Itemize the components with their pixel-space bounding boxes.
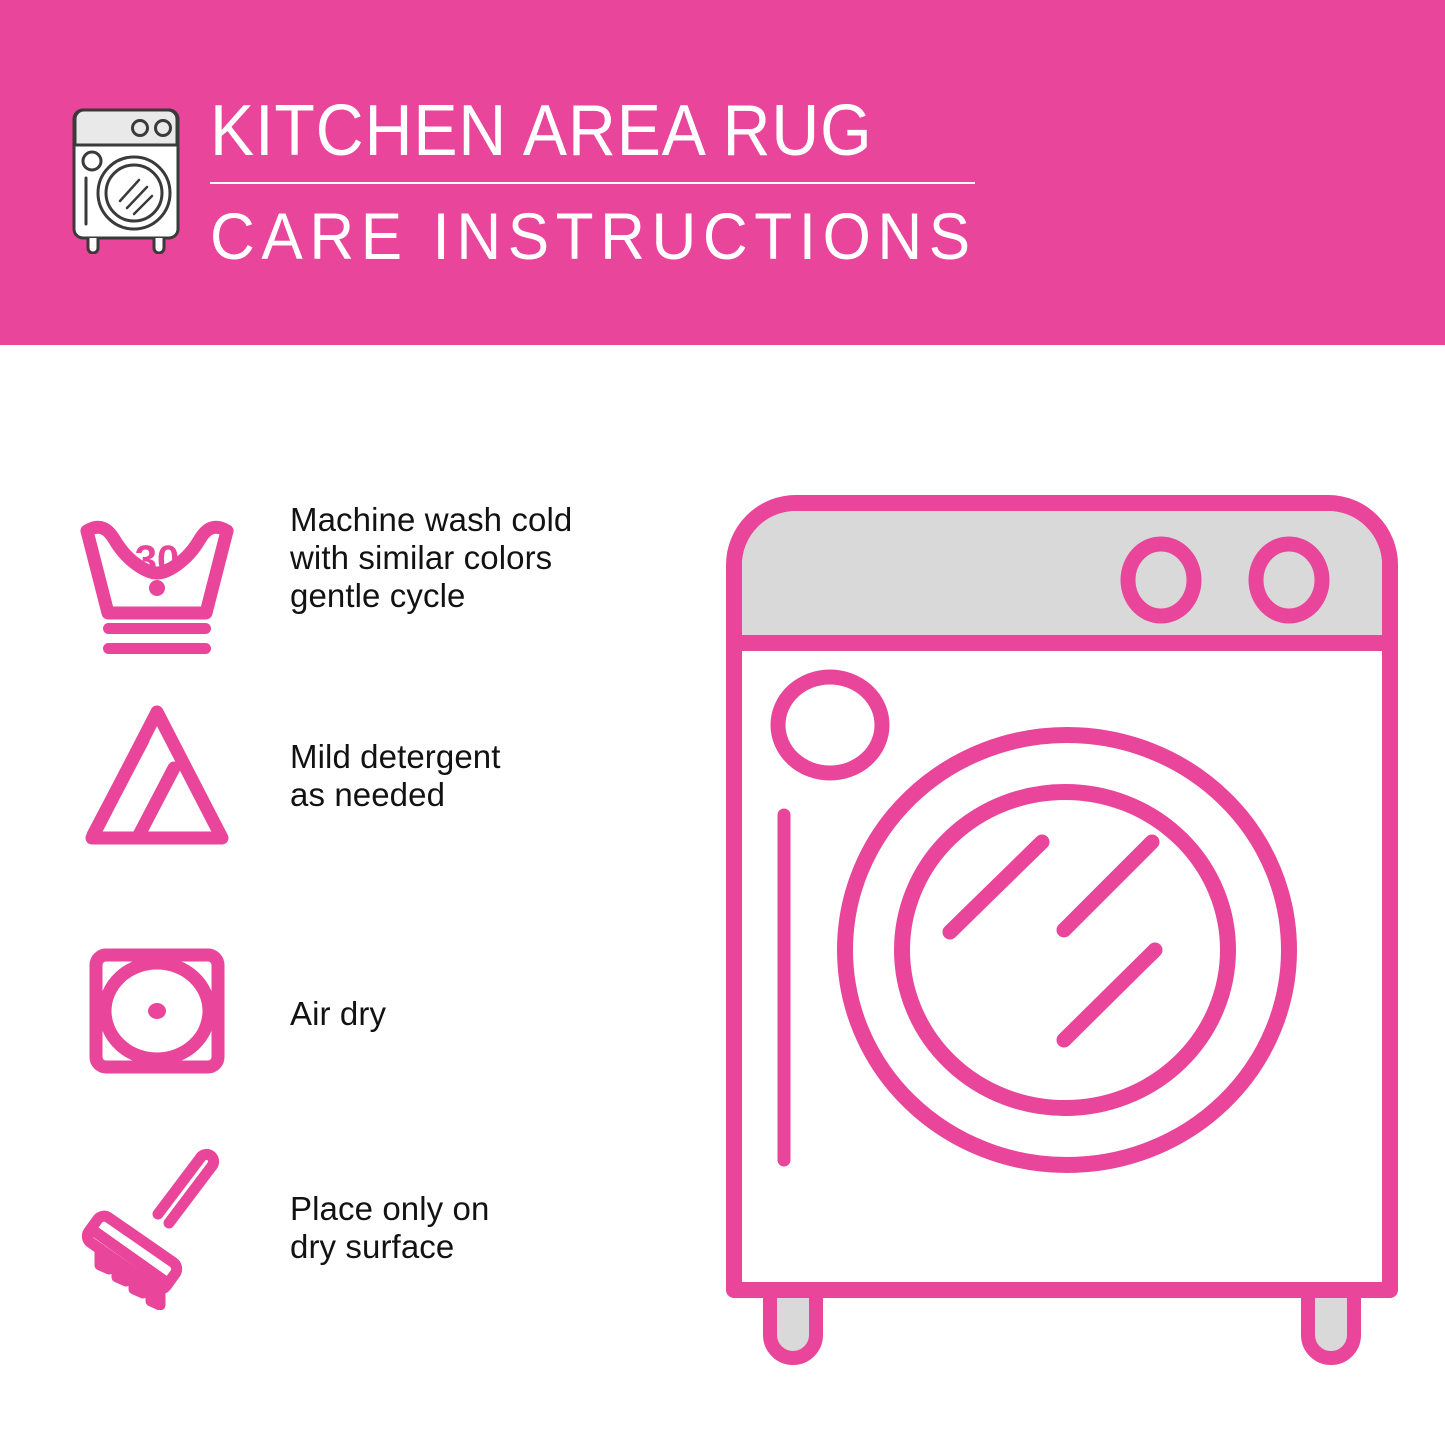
list-item-label: Machine wash cold with similar colors ge… xyxy=(290,501,572,615)
header-text-block: KITCHEN AREA RUG CARE INSTRUCTIONS xyxy=(210,92,1000,274)
dry-center-dot xyxy=(148,1003,166,1019)
line: Mild detergent xyxy=(290,738,501,776)
line: with similar colors xyxy=(290,539,572,577)
page-title: KITCHEN AREA RUG xyxy=(210,92,937,170)
line: dry surface xyxy=(290,1228,489,1266)
page-subtitle: CARE INSTRUCTIONS xyxy=(210,198,953,274)
line: Machine wash cold xyxy=(290,501,572,539)
washing-machine-icon xyxy=(64,104,188,254)
bleach-triangle-icon xyxy=(70,690,245,865)
title-divider xyxy=(210,182,975,184)
line: gentle cycle xyxy=(290,577,572,615)
wash-dot xyxy=(149,580,165,596)
line: as needed xyxy=(290,776,501,814)
broom-icon xyxy=(70,1135,245,1310)
care-instruction-list: 30 Machine wash cold with similar colors… xyxy=(0,345,660,1445)
list-item-label: Air dry xyxy=(290,995,386,1033)
list-item-label: Place only on dry surface xyxy=(290,1190,489,1266)
list-item-label: Mild detergent as needed xyxy=(290,738,501,814)
header-banner: KITCHEN AREA RUG CARE INSTRUCTIONS xyxy=(0,0,1445,345)
washing-machine-illustration xyxy=(712,470,1412,1380)
line: Air dry xyxy=(290,995,386,1033)
wash-tub-30-gentle-icon: 30 xyxy=(70,493,245,668)
tumble-dry-icon xyxy=(70,923,245,1098)
wash-temperature-label: 30 xyxy=(135,538,180,582)
line: Place only on xyxy=(290,1190,489,1228)
